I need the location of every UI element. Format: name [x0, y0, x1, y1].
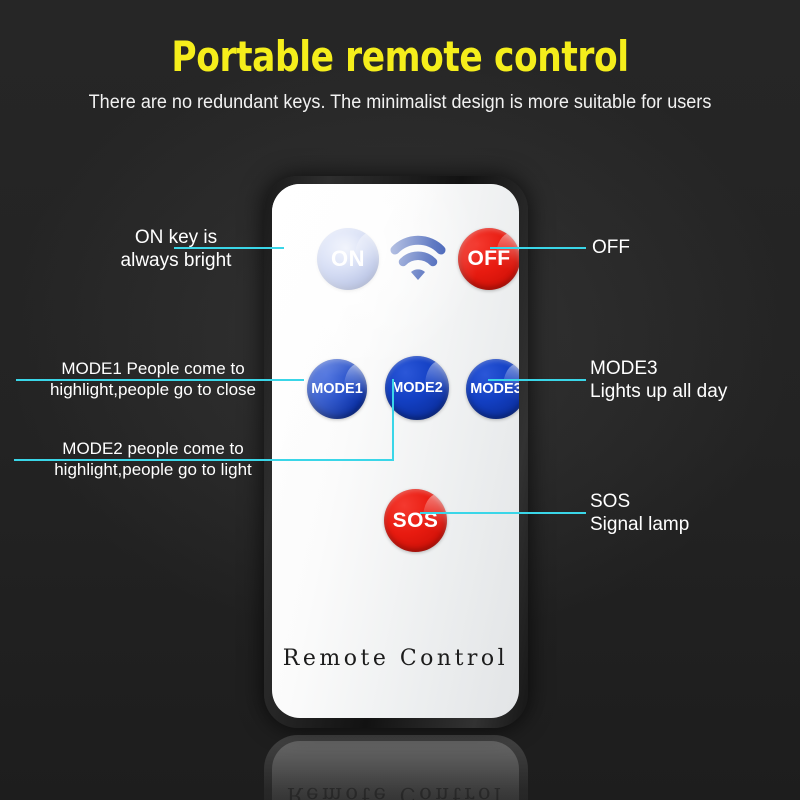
- product-infographic: Portable remote control There are no red…: [0, 0, 800, 800]
- callout-on-line2: always bright: [96, 249, 256, 272]
- remote-reflection-brand-text: Remote Control: [272, 783, 519, 800]
- callout-mode1-line1: MODE1 People come to: [8, 358, 298, 379]
- remote-button-off[interactable]: OFF: [458, 228, 519, 290]
- remote-button-mode1-label: MODE1: [311, 381, 363, 397]
- page-title: Portable remote control: [72, 0, 728, 81]
- remote-button-mode2-label: MODE2: [391, 380, 443, 396]
- callout-on-line1: ON key is: [96, 226, 256, 249]
- remote-reflection: Remote Control: [264, 735, 528, 800]
- remote-button-on[interactable]: ON: [317, 228, 379, 290]
- remote-button-mode1[interactable]: MODE1: [307, 359, 367, 419]
- leader-line-mode3: [488, 379, 586, 381]
- callout-mode1: MODE1 People come to highlight,people go…: [8, 358, 298, 400]
- remote-button-mode3-label: MODE3: [470, 381, 519, 397]
- callout-mode3-line2: Lights up all day: [590, 380, 727, 403]
- callout-sos-line1: SOS: [590, 490, 689, 513]
- remote-button-off-label: OFF: [468, 247, 511, 271]
- page-subtitle: There are no redundant keys. The minimal…: [20, 81, 780, 115]
- callout-mode3: MODE3 Lights up all day: [590, 357, 727, 403]
- callout-off-line1: OFF: [592, 236, 630, 259]
- remote-button-mode3[interactable]: MODE3: [466, 359, 519, 419]
- remote-reflection-face: Remote Control: [272, 741, 519, 800]
- callout-mode2-line1: MODE2 people come to: [8, 438, 298, 459]
- callout-off: OFF: [592, 236, 630, 259]
- remote-control-device: ON OFF MODE1 MODE2: [264, 176, 528, 728]
- callout-mode2-line2: highlight,people go to light: [8, 459, 298, 480]
- header: Portable remote control There are no red…: [0, 0, 800, 115]
- leader-line-sos: [420, 512, 586, 514]
- remote-brand-text: Remote Control: [272, 646, 519, 671]
- wifi-icon: [390, 232, 446, 284]
- remote-face: ON OFF MODE1 MODE2: [272, 184, 519, 718]
- callout-mode3-line1: MODE3: [590, 357, 727, 380]
- callout-mode1-line2: highlight,people go to close: [8, 379, 298, 400]
- remote-button-mode2[interactable]: MODE2: [385, 356, 449, 420]
- callout-sos-line2: Signal lamp: [590, 513, 689, 536]
- leader-line-mode2-vertical: [392, 379, 394, 461]
- callout-sos: SOS Signal lamp: [590, 490, 689, 536]
- callout-on: ON key is always bright: [96, 226, 256, 272]
- leader-line-off: [490, 247, 586, 249]
- callout-mode2: MODE2 people come to highlight,people go…: [8, 438, 298, 480]
- remote-button-sos[interactable]: SOS: [384, 489, 447, 552]
- remote-button-on-label: ON: [331, 246, 365, 272]
